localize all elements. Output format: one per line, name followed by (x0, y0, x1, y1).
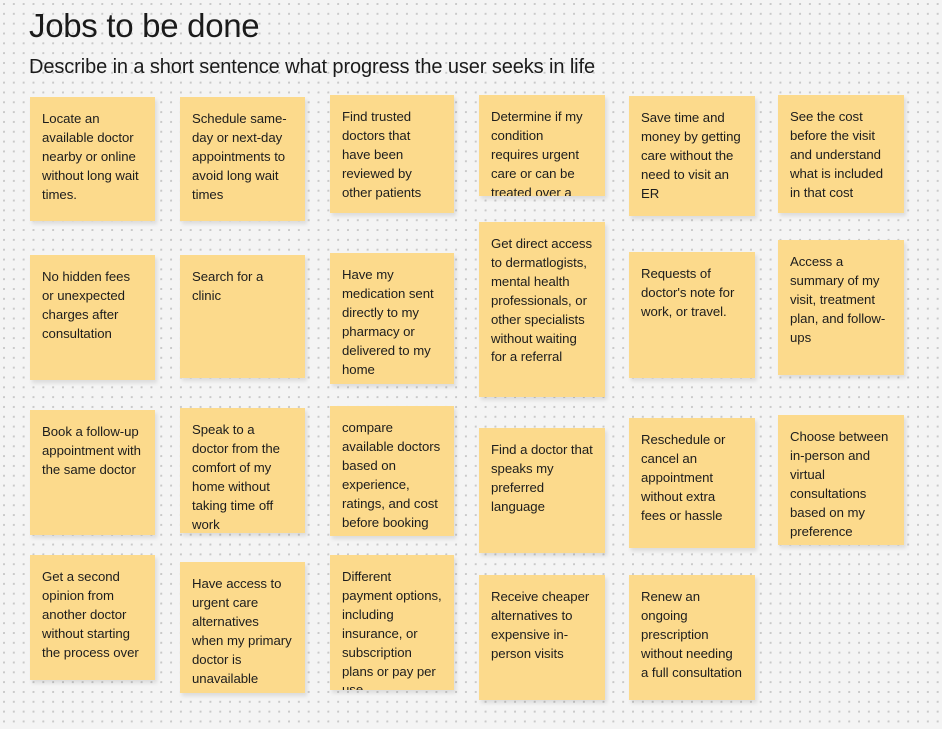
sticky-note[interactable]: compare available doctors based on exper… (330, 406, 454, 536)
sticky-note-text: Requests of doctor's note for work, or t… (641, 265, 743, 322)
sticky-note-text: Choose between in-person and virtual con… (790, 428, 892, 541)
sticky-note-text: Search for a clinic (192, 268, 293, 306)
sticky-note-text: See the cost before the visit and unders… (790, 108, 892, 203)
sticky-note[interactable]: Schedule same-day or next-day appointmen… (180, 97, 305, 221)
sticky-note[interactable]: Save time and money by getting care with… (629, 96, 755, 216)
sticky-note[interactable]: Requests of doctor's note for work, or t… (629, 252, 755, 378)
sticky-note[interactable]: Get a second opinion from another doctor… (30, 555, 155, 680)
sticky-note-text: Save time and money by getting care with… (641, 109, 743, 204)
sticky-note-text: Schedule same-day or next-day appointmen… (192, 110, 293, 205)
sticky-note-text: Renew an ongoing prescription without ne… (641, 588, 743, 683)
sticky-note-text: Access a summary of my visit, treatment … (790, 253, 892, 348)
sticky-note[interactable]: No hidden fees or unexpected charges aft… (30, 255, 155, 380)
sticky-note[interactable]: Access a summary of my visit, treatment … (778, 240, 904, 375)
sticky-note[interactable]: Locate an available doctor nearby or onl… (30, 97, 155, 221)
sticky-note[interactable]: Search for a clinic (180, 255, 305, 378)
sticky-note[interactable]: Renew an ongoing prescription without ne… (629, 575, 755, 700)
sticky-note-text: Determine if my condition requires urgen… (491, 108, 593, 196)
sticky-note[interactable]: Speak to a doctor from the comfort of my… (180, 408, 305, 533)
sticky-note[interactable]: Reschedule or cancel an appointment with… (629, 418, 755, 548)
sticky-note-text: Have my medication sent directly to my p… (342, 266, 442, 379)
sticky-note[interactable]: Have my medication sent directly to my p… (330, 253, 454, 384)
sticky-note-text: Locate an available doctor nearby or onl… (42, 110, 143, 205)
sticky-note-text: No hidden fees or unexpected charges aft… (42, 268, 143, 344)
sticky-note-text: Speak to a doctor from the comfort of my… (192, 421, 293, 533)
sticky-note[interactable]: Receive cheaper alternatives to expensiv… (479, 575, 605, 700)
sticky-note[interactable]: Choose between in-person and virtual con… (778, 415, 904, 545)
sticky-note[interactable]: Determine if my condition requires urgen… (479, 95, 605, 196)
sticky-note-text: Reschedule or cancel an appointment with… (641, 431, 743, 526)
sticky-note[interactable]: Find trusted doctors that have been revi… (330, 95, 454, 213)
sticky-note-text: Book a follow-up appointment with the sa… (42, 423, 143, 480)
sticky-note-text: Receive cheaper alternatives to expensiv… (491, 588, 593, 664)
sticky-note[interactable]: Find a doctor that speaks my preferred l… (479, 428, 605, 553)
sticky-note[interactable]: Have access to urgent care alternatives … (180, 562, 305, 693)
sticky-note[interactable]: See the cost before the visit and unders… (778, 95, 904, 213)
whiteboard-canvas[interactable]: Jobs to be done Describe in a short sent… (0, 0, 942, 729)
sticky-note-text: Different payment options, including ins… (342, 568, 442, 690)
sticky-note[interactable]: Get direct access to dermatlogists, ment… (479, 222, 605, 397)
sticky-note[interactable]: Book a follow-up appointment with the sa… (30, 410, 155, 535)
page-title: Jobs to be done (29, 6, 259, 46)
sticky-note-text: Have access to urgent care alternatives … (192, 575, 293, 688)
sticky-note-text: Get a second opinion from another doctor… (42, 568, 143, 663)
sticky-note-text: Find a doctor that speaks my preferred l… (491, 441, 593, 517)
sticky-note-text: Find trusted doctors that have been revi… (342, 108, 442, 203)
page-subtitle: Describe in a short sentence what progre… (29, 54, 595, 80)
sticky-note[interactable]: Different payment options, including ins… (330, 555, 454, 690)
sticky-note-text: Get direct access to dermatlogists, ment… (491, 235, 593, 367)
sticky-note-text: compare available doctors based on exper… (342, 419, 442, 532)
